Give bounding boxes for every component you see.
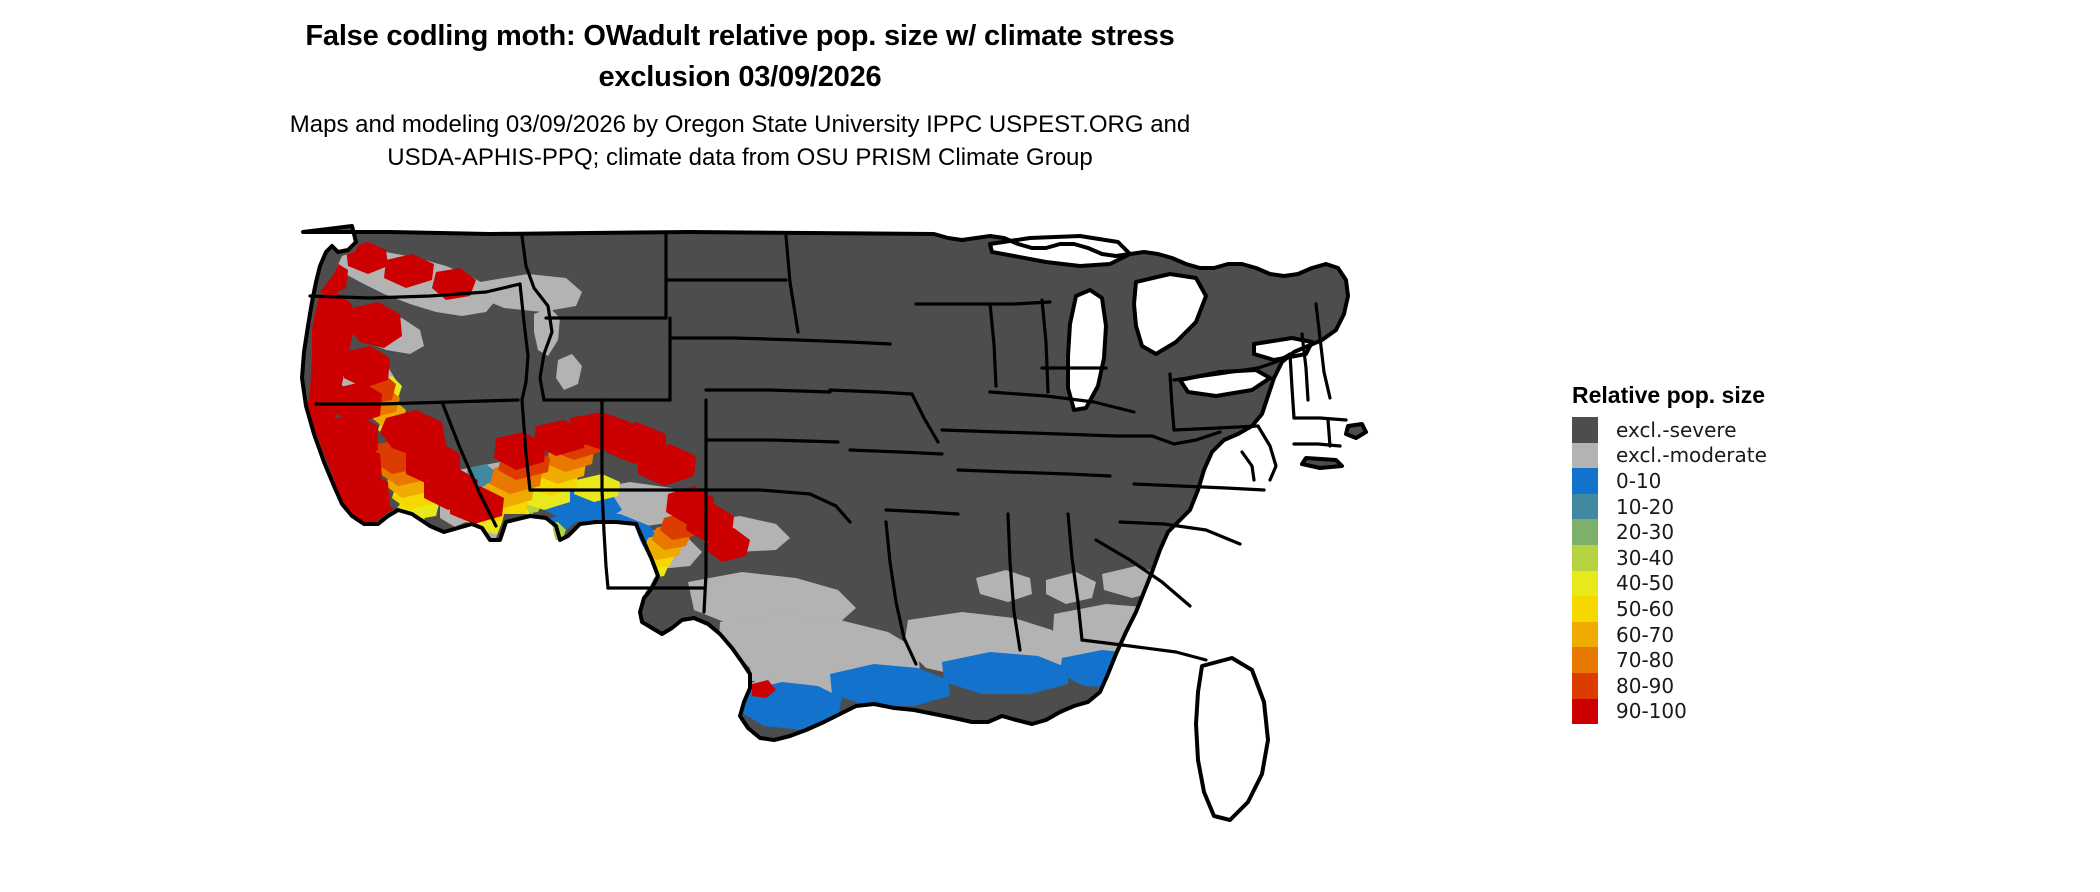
- legend-item: 50-60: [1572, 596, 1767, 622]
- legend-label: 40-50: [1616, 573, 1674, 593]
- legend-label: excl.-moderate: [1616, 445, 1767, 465]
- legend-label: 20-30: [1616, 522, 1674, 542]
- legend-label: 80-90: [1616, 676, 1674, 696]
- map-subtitle: Maps and modeling 03/09/2026 by Oregon S…: [0, 108, 1480, 174]
- legend-swatch: [1572, 647, 1598, 673]
- legend-swatch: [1572, 443, 1598, 469]
- legend-swatch: [1572, 545, 1598, 571]
- legend-label: 0-10: [1616, 471, 1661, 491]
- legend-label: 90-100: [1616, 701, 1687, 721]
- legend-swatch: [1572, 468, 1598, 494]
- legend-label: 60-70: [1616, 625, 1674, 645]
- legend-item: 80-90: [1572, 673, 1767, 699]
- legend-item: 20-30: [1572, 519, 1767, 545]
- legend-label: 10-20: [1616, 497, 1674, 517]
- map-svg: [290, 222, 1590, 882]
- legend-item: 30-40: [1572, 545, 1767, 571]
- legend-items: excl.-severeexcl.-moderate0-1010-2020-30…: [1572, 417, 1767, 724]
- legend-label: 50-60: [1616, 599, 1674, 619]
- legend-swatch: [1572, 494, 1598, 520]
- figure-canvas: False codling moth: OWadult relative pop…: [0, 0, 2100, 892]
- legend-item: 0-10: [1572, 468, 1767, 494]
- legend-item: 90-100: [1572, 699, 1767, 725]
- legend-item: 40-50: [1572, 571, 1767, 597]
- legend-item: excl.-moderate: [1572, 443, 1767, 469]
- legend-swatch: [1572, 571, 1598, 597]
- page-title: False codling moth: OWadult relative pop…: [0, 16, 1480, 98]
- legend-label: 30-40: [1616, 548, 1674, 568]
- legend-swatch: [1572, 519, 1598, 545]
- legend-label: 70-80: [1616, 650, 1674, 670]
- legend-item: 60-70: [1572, 622, 1767, 648]
- choropleth-map: [290, 222, 1590, 882]
- legend-label: excl.-severe: [1616, 420, 1737, 440]
- legend-item: 10-20: [1572, 494, 1767, 520]
- legend-swatch: [1572, 596, 1598, 622]
- title-block: False codling moth: OWadult relative pop…: [0, 16, 1480, 174]
- map-legend: Relative pop. size excl.-severeexcl.-mod…: [1572, 382, 1767, 724]
- legend-swatch: [1572, 699, 1598, 725]
- legend-swatch: [1572, 673, 1598, 699]
- ct-ri-line: [1328, 420, 1330, 446]
- legend-item: 70-80: [1572, 647, 1767, 673]
- legend-swatch: [1572, 417, 1598, 443]
- legend-item: excl.-severe: [1572, 417, 1767, 443]
- legend-title: Relative pop. size: [1572, 382, 1767, 409]
- legend-swatch: [1572, 622, 1598, 648]
